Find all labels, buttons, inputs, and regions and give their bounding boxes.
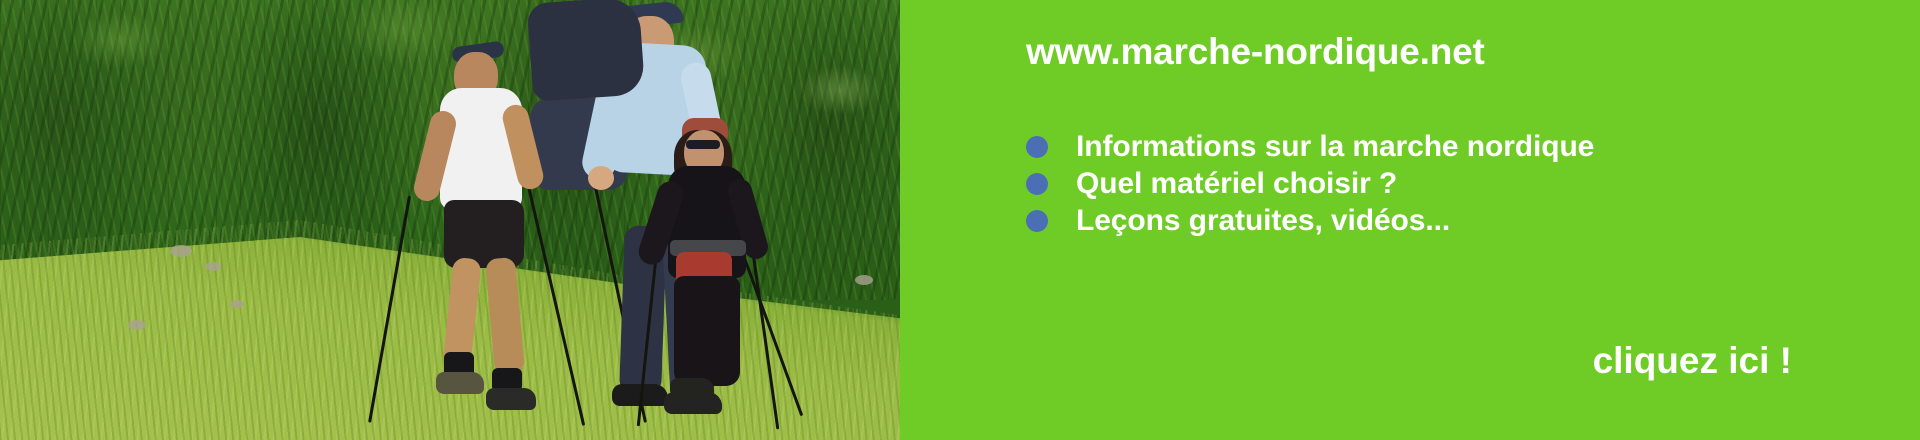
shoe-left bbox=[436, 372, 484, 394]
list-item[interactable]: Leçons gratuites, vidéos... bbox=[1026, 202, 1594, 239]
nordic-walking-photo bbox=[0, 0, 900, 440]
leg-right bbox=[485, 257, 525, 375]
list-item-label: Leçons gratuites, vidéos... bbox=[1076, 204, 1450, 238]
rock bbox=[128, 320, 146, 330]
shoe-right bbox=[486, 388, 536, 410]
bullet-dot-icon bbox=[1026, 173, 1048, 195]
walking-pole bbox=[752, 256, 779, 430]
list-item-label: Quel matériel choisir ? bbox=[1076, 167, 1397, 201]
shorts bbox=[444, 200, 524, 268]
ad-text-panel[interactable]: www.marche-nordique.net Informations sur… bbox=[900, 0, 1920, 440]
website-url[interactable]: www.marche-nordique.net bbox=[1026, 31, 1485, 73]
list-item-label: Informations sur la marche nordique bbox=[1076, 130, 1594, 164]
rock bbox=[205, 262, 221, 271]
rock bbox=[230, 300, 244, 308]
list-item[interactable]: Informations sur la marche nordique bbox=[1026, 128, 1594, 165]
feature-list: Informations sur la marche nordique Quel… bbox=[1026, 128, 1594, 239]
click-here-cta[interactable]: cliquez ici ! bbox=[1593, 340, 1792, 382]
walking-pole bbox=[526, 182, 585, 426]
shoe-left bbox=[670, 378, 714, 398]
list-item[interactable]: Quel matériel choisir ? bbox=[1026, 165, 1594, 202]
legs bbox=[674, 276, 740, 386]
bullet-dot-icon bbox=[1026, 210, 1048, 232]
walker-figure-3 bbox=[660, 0, 900, 440]
advertisement-banner[interactable]: www.marche-nordique.net Informations sur… bbox=[0, 0, 1920, 440]
rock bbox=[170, 245, 192, 257]
bullet-dot-icon bbox=[1026, 136, 1048, 158]
sunglasses bbox=[686, 140, 720, 149]
